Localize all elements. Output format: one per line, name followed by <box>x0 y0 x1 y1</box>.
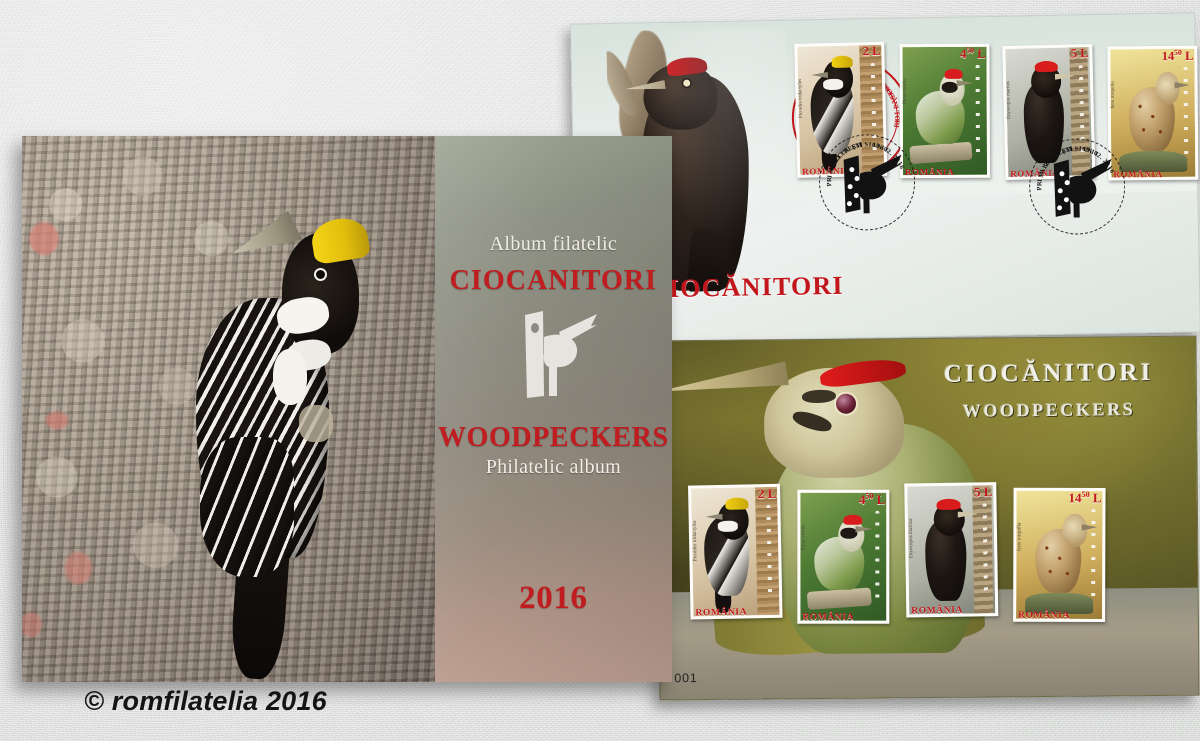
album-title-en: WOODPECKERS <box>435 422 672 454</box>
fdc-postmark: PRIMA ZI A EMISIUNIIBUCUREŞTI 09.02.2016 <box>818 133 916 231</box>
souvenir-sheet[interactable]: CIOCĂNITORI WOODPECKERS 001 Picoides tri… <box>656 336 1199 701</box>
stamp-image <box>691 487 779 617</box>
stamp-image <box>907 485 995 614</box>
stamp-species-latin: Picus viridis <box>800 525 806 551</box>
sheet-title-block: CIOCĂNITORI WOODPECKERS <box>924 359 1175 422</box>
sheet-background: CIOCĂNITORI WOODPECKERS 001 Picoides tri… <box>656 336 1199 701</box>
stamp-species-latin: Jynx torquilla <box>1111 81 1116 109</box>
stamp-species-latin: Picoides tridactylus <box>798 79 804 118</box>
stamp-image <box>800 493 886 621</box>
romfilatelia-logo-icon <box>513 308 599 400</box>
stamp-perforation-dots <box>875 511 879 603</box>
stamp-denomination: 1450 L <box>1069 490 1102 506</box>
sheet-title-en: WOODPECKERS <box>924 399 1174 422</box>
screenshot-canvas: PRIMA ZI A EMISIUNII CIOCĂNITORI BUCUREŞ… <box>0 0 1200 741</box>
album-title-ro: CIOCANITORI <box>435 265 672 297</box>
stamp-three-toed-woodpecker[interactable]: Picoides tridactylus2 LROMÂNIA <box>688 484 783 620</box>
album-title-panel: Album filatelic CIOCANITORI WOODPECKERS … <box>435 136 672 682</box>
philatelic-album[interactable]: Album filatelic CIOCANITORI WOODPECKERS … <box>22 136 672 682</box>
stamp-image <box>903 47 988 175</box>
stamp-perforation-dots <box>1091 509 1095 601</box>
sheet-title-ro: CIOCĂNITORI <box>924 359 1174 389</box>
sheet-serial-number: 001 <box>674 671 697 685</box>
stamp-species-latin: Picoides tridactylus <box>692 520 699 561</box>
stamp-species-latin: Dryocopus martius <box>908 518 915 558</box>
stamp-denomination: 2 L <box>758 486 777 502</box>
stamp-species-latin: Picus viridis <box>903 79 908 104</box>
stamp-denomination: 450 L <box>859 492 885 508</box>
stamp-denomination: 5 L <box>1071 46 1089 61</box>
album-year: 2016 <box>435 580 672 617</box>
album-subtitle-en: Philatelic album <box>435 456 672 479</box>
stamp-european-green-woodpecker[interactable]: Picus viridis450 LROMÂNIA <box>797 490 889 624</box>
stamp-denomination: 450 L <box>960 46 986 62</box>
stamp-species-latin: Dryocopus martius <box>1006 81 1012 119</box>
stamp-species-latin: Jynx torquilla <box>1016 523 1022 552</box>
stamp-denomination: 5 L <box>974 484 993 500</box>
album-cover-photo <box>22 136 435 682</box>
fdc-postmark: PRIMA ZI A EMISIUNIIBUCUREŞTI 09.02.2016 <box>1028 138 1126 236</box>
stamp-perforation-dots <box>976 65 980 157</box>
stamp-denomination: 1450 L <box>1162 48 1194 64</box>
copyright-notice: © romfilatelia 2016 <box>84 686 327 717</box>
stamp-image <box>1016 491 1102 619</box>
album-subtitle-ro: Album filatelic <box>435 233 672 256</box>
stamp-country: ROMÂNIA <box>911 606 963 617</box>
stamp-black-woodpecker[interactable]: Dryocopus martius5 LROMÂNIA <box>904 482 998 617</box>
stamp-eurasian-wryneck[interactable]: Jynx torquilla1450 LROMÂNIA <box>1013 488 1105 622</box>
stamp-country: ROMÂNIA <box>802 613 854 623</box>
stamp-country: ROMÂNIA <box>1018 611 1070 621</box>
fdc-title: CIOCĂNITORI <box>649 271 844 305</box>
stamp-country: ROMÂNIA <box>695 607 747 618</box>
album-three-toed-woodpecker <box>187 196 402 660</box>
fdc-stamp-strip: Picoides tridactylus2 LROMÂNIAPicus viri… <box>795 36 1200 193</box>
sheet-stamp-row: Picoides tridactylus2 LROMÂNIAPicus viri… <box>689 481 1184 655</box>
stamp-denomination: 2 L <box>862 44 880 59</box>
